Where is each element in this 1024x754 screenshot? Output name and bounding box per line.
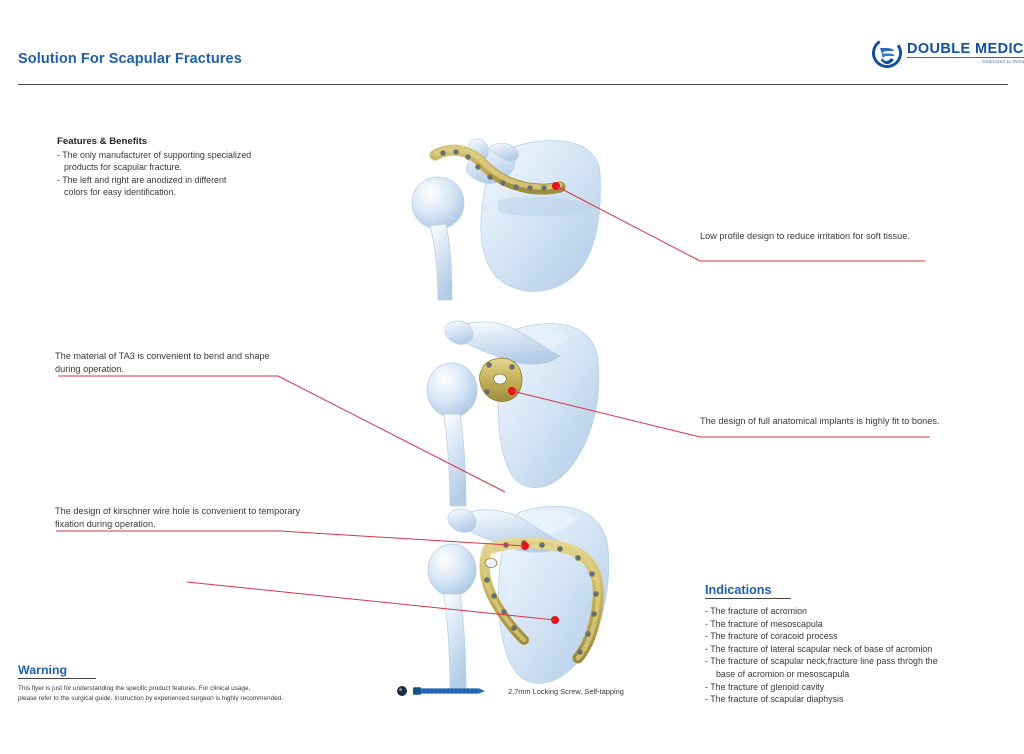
features-line-4: colors for easy identification. bbox=[57, 186, 251, 198]
indication-item: - The fracture of acromion bbox=[705, 605, 938, 618]
marker-kirschner-top bbox=[521, 542, 529, 550]
indication-item: - The fracture of coracoid process bbox=[705, 630, 938, 643]
locking-screw-icon bbox=[396, 684, 492, 698]
brand-name: DOUBLE MEDICAL bbox=[907, 42, 1024, 57]
features-line-2: products for scapular fracture. bbox=[57, 161, 251, 173]
leader-anatomical-fit bbox=[512, 391, 930, 437]
flyer-page: Solution For Scapular Fractures DOUBLE M… bbox=[0, 0, 1024, 754]
indications-underline bbox=[705, 598, 791, 599]
leader-kirschner-d1 bbox=[280, 531, 525, 546]
brand-tagline: Dedicated to Rehabilitation bbox=[907, 60, 1024, 65]
leader-ta3-material-d bbox=[278, 376, 505, 492]
header-divider bbox=[18, 84, 1008, 85]
features-line-3: - The left and right are anodized in dif… bbox=[57, 174, 251, 186]
callout-anatomical-fit: The design of full anatomical implants i… bbox=[700, 415, 940, 428]
callout-kirschner-wire-hole: The design of kirschner wire hole is con… bbox=[55, 505, 305, 531]
screw-legend: 2.7mm Locking Screw, Self-tapping bbox=[396, 684, 624, 698]
indication-item: - The fracture of lateral scapular neck … bbox=[705, 643, 938, 656]
page-title: Solution For Scapular Fractures bbox=[18, 51, 242, 67]
marker-low-profile bbox=[552, 182, 560, 190]
warning-line: please refer to the surgical guide. Inst… bbox=[18, 694, 283, 704]
indication-item: - The fracture of scapular diaphysis bbox=[705, 693, 938, 706]
features-title: Features & Benefits bbox=[57, 136, 251, 147]
callout-ta3-material: The material of TA3 is convenient to ben… bbox=[55, 350, 295, 376]
marker-kirschner-bottom bbox=[551, 616, 559, 624]
indication-item: - The fracture of glenoid cavity bbox=[705, 681, 938, 694]
leader-low-profile bbox=[556, 186, 925, 261]
features-benefits-block: Features & Benefits - The only manufactu… bbox=[57, 136, 251, 198]
illustration-scapula-border-plates bbox=[428, 506, 609, 690]
double-medical-swoosh-icon bbox=[872, 38, 902, 68]
illustration-anterior-scapula bbox=[412, 139, 600, 300]
indication-item-continued: base of acromion or mesoscapula bbox=[705, 668, 938, 681]
warning-line: This flyer is just for understanding the… bbox=[18, 684, 283, 694]
marker-anatomical-fit bbox=[508, 387, 516, 395]
indication-item: - The fracture of mesoscapula bbox=[705, 618, 938, 631]
indications-block: Indications - The fracture of acromion -… bbox=[705, 583, 938, 706]
warning-block: Warning This flyer is just for understan… bbox=[18, 663, 283, 703]
brand-logo: DOUBLE MEDICAL Dedicated to Rehabilitati… bbox=[872, 38, 1024, 68]
callout-low-profile: Low profile design to reduce irritation … bbox=[700, 230, 935, 243]
leader-kirschner-d2 bbox=[187, 582, 555, 620]
features-line-1: - The only manufacturer of supporting sp… bbox=[57, 149, 251, 161]
screw-legend-label: 2.7mm Locking Screw, Self-tapping bbox=[508, 687, 624, 696]
indications-title: Indications bbox=[705, 583, 938, 597]
warning-underline bbox=[18, 678, 96, 679]
warning-title: Warning bbox=[18, 663, 283, 677]
indication-item: - The fracture of scapular neck,fracture… bbox=[705, 655, 938, 668]
illustration-posterior-scapula bbox=[427, 321, 599, 506]
